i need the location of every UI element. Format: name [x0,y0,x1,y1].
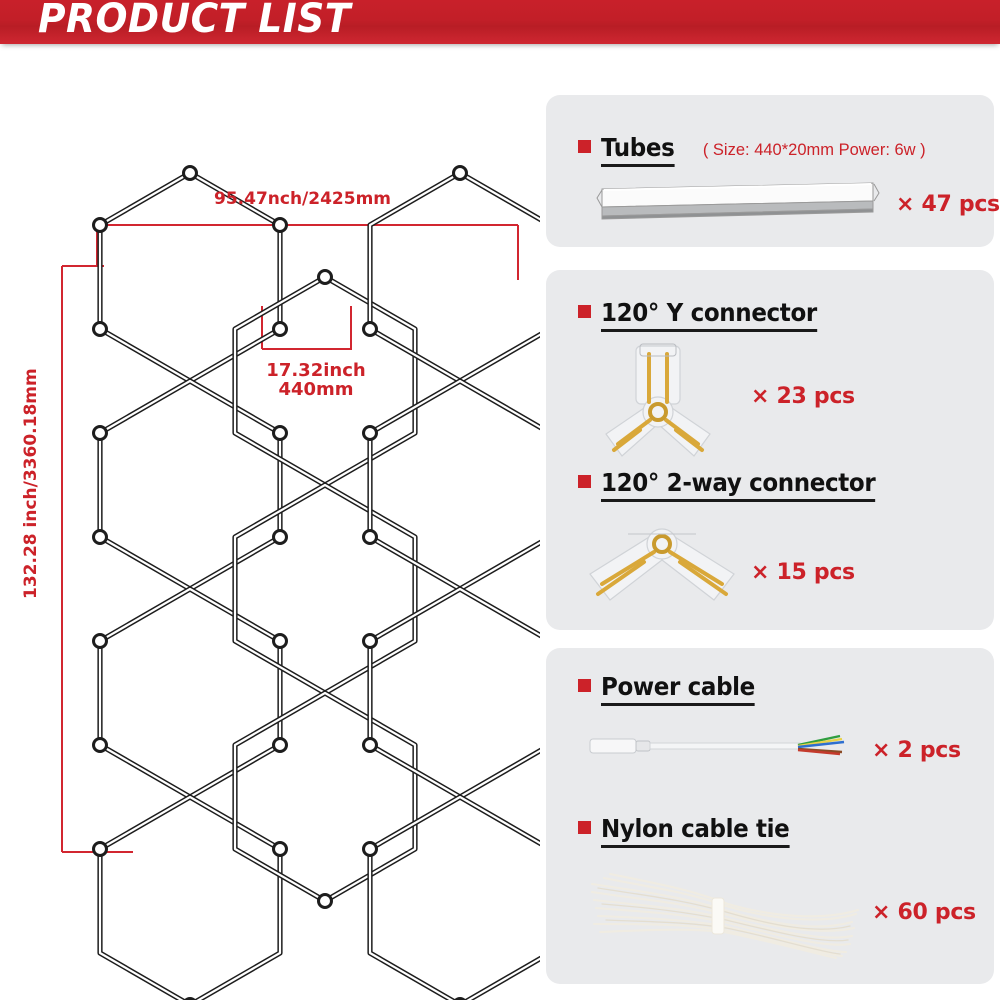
hexagon-grid-svg [0,44,540,1000]
power-cable-heading: Power cable [578,672,768,706]
cable-tie-qty: × 60 pcs [872,900,976,925]
page-title: PRODUCT LIST [38,0,351,42]
hex-cell [235,693,415,901]
hexagon-grid-diagram: 95.47nch/2425mm 132.28 inch/3360.18mm 17… [0,44,540,1000]
bullet-square-icon [578,475,591,488]
hex-cell [370,589,540,797]
cable-tie-heading: Nylon cable tie [578,814,806,848]
product-cards-column: Tubes ( Size: 440*20mm Power: 6w ) × 47 … [540,44,1000,1000]
dimension-lines [62,225,518,852]
power-cable-qty: × 2 pcs [872,738,961,763]
power-cable-title: Power cable [601,672,755,706]
hex-cell [370,797,540,1000]
cable-tie-title: Nylon cable tie [601,814,789,848]
card-misc: Power cable × 2 pcs [546,648,994,984]
two-way-connector-heading: 120° 2-way connector [578,468,899,502]
product-list-page: PRODUCT LIST [0,0,1000,1000]
cable-tie-bundle-icon [584,862,864,962]
tubes-title: Tubes [601,133,674,167]
two-way-connector-title: 120° 2-way connector [601,468,875,502]
y-connector-title: 120° Y connector [601,298,817,332]
tubes-qty: × 47 pcs [896,192,1000,217]
header-banner: PRODUCT LIST [0,0,1000,44]
hex-cell [100,797,280,1000]
bullet-square-icon [578,821,591,834]
bullet-square-icon [578,679,591,692]
card-tubes: Tubes ( Size: 440*20mm Power: 6w ) × 47 … [546,95,994,247]
tubes-spec: ( Size: 440*20mm Power: 6w ) [703,141,926,160]
led-tube-icon [592,176,884,226]
hex-cell [370,173,540,381]
hex-cell [370,381,540,589]
y-connector-heading: 120° Y connector [578,298,836,332]
bullet-square-icon [578,140,591,153]
two-way-connector-icon [576,516,748,606]
power-cable-icon [588,728,858,764]
two-way-connector-qty: × 15 pcs [751,560,855,585]
hex-cell [235,485,415,693]
diagram-height-label: 132.28 inch/3360.18mm [21,369,41,599]
segment-label-mm: 440mm [278,379,353,400]
diagram-segment-label: 17.32inch 440mm [256,362,376,399]
tubes-heading: Tubes ( Size: 440*20mm Power: 6w ) [578,133,926,167]
bullet-square-icon [578,305,591,318]
hex-cell [100,381,280,589]
hexagon-cells [100,173,540,1000]
y-connector-qty: × 23 pcs [751,384,855,409]
card-connectors: 120° Y connector [546,270,994,630]
y-connector-icon [578,342,738,464]
hex-cell [100,589,280,797]
diagram-width-label: 95.47nch/2425mm [214,189,391,209]
